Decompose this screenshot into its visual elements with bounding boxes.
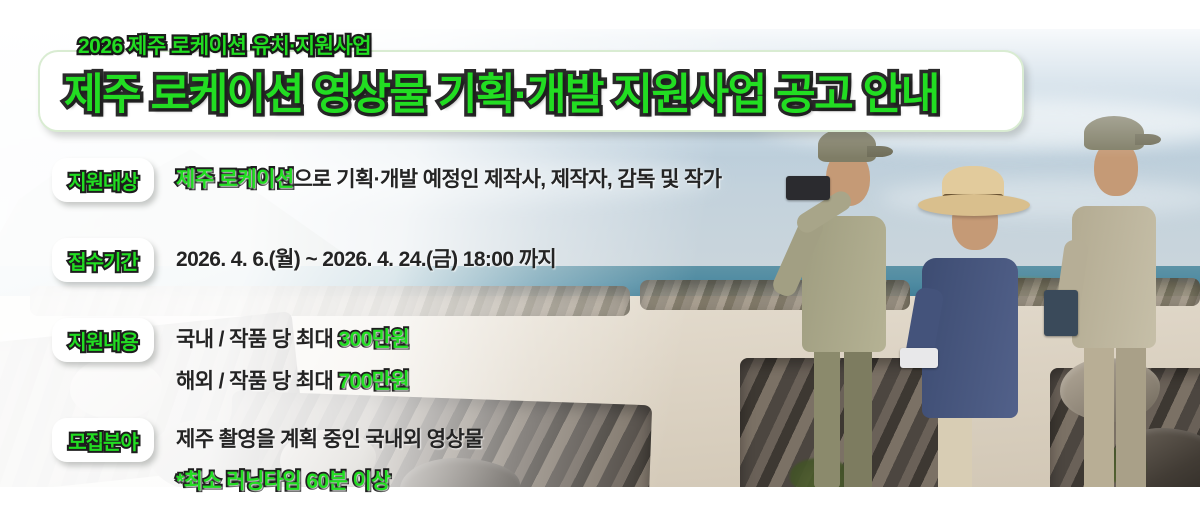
row-body: 제주 로케이션으로 기획·개발 예정인 제작사, 제작자, 감독 및 작가 [176,158,721,197]
row-line-highlight: 제주 로케이션 [176,168,294,191]
leg [814,338,840,487]
phone-icon [900,348,938,368]
tablet-icon [1044,290,1078,336]
leg [844,338,872,487]
row-line-text: 해외 / 작품 당 최대 [176,370,338,393]
row-badge: 모집분야 [52,418,154,462]
row-line-highlight: 700만원 [338,370,409,393]
row-badge-label: 지원내용 [68,326,138,355]
row-line-text: 국내 / 작품 당 최대 [176,328,338,351]
row-line: 2026. 4. 6.(월) ~ 2026. 4. 24.(금) 18:00 까… [176,243,556,277]
row-line-highlight: 300만원 [338,328,409,351]
row-badge: 지원대상 [52,158,154,202]
row-line-text: 2026. 4. 6.(월) ~ 2026. 4. 24.(금) 18:00 까… [176,248,556,271]
row-body: 2026. 4. 6.(월) ~ 2026. 4. 24.(금) 18:00 까… [176,238,556,277]
info-row: 접수기간2026. 4. 6.(월) ~ 2026. 4. 24.(금) 18:… [52,238,556,282]
row-badge: 지원내용 [52,318,154,362]
poster-banner: 2026 제주 로케이션 유치·지원사업 제주 로케이션 영상물 기획·개발 지… [0,0,1200,520]
row-line-text: 제주 촬영을 계획 중인 국내외 영상물 [176,428,483,451]
row-line: 해외 / 작품 당 최대 700만원 [176,365,409,399]
page-title: 제주 로케이션 영상물 기획·개발 지원사업 공고 안내 [64,60,939,122]
row-badge-label: 모집분야 [68,426,138,455]
row-line-highlight: *최소 러닝타임 60분 이상 [176,470,390,493]
info-row: 지원내용국내 / 작품 당 최대 300만원해외 / 작품 당 최대 700만원 [52,318,409,398]
leg [1116,340,1146,487]
info-row: 지원대상제주 로케이션으로 기획·개발 예정인 제작사, 제작자, 감독 및 작… [52,158,721,202]
row-body: 제주 촬영을 계획 중인 국내외 영상물*최소 러닝타임 60분 이상 [176,418,483,498]
eyebrow-text: 2026 제주 로케이션 유치·지원사업 [78,30,371,60]
info-row: 모집분야제주 촬영을 계획 중인 국내외 영상물*최소 러닝타임 60분 이상 [52,418,483,498]
row-badge-label: 지원대상 [68,166,138,195]
row-badge: 접수기간 [52,238,154,282]
hat-brim [918,194,1030,216]
torso [1072,206,1156,348]
phone-icon [786,176,830,200]
top-white-band [0,0,1200,29]
row-line-text: 으로 기획·개발 예정인 제작사, 제작자, 감독 및 작가 [294,168,722,191]
row-body: 국내 / 작품 당 최대 300만원해외 / 작품 당 최대 700만원 [176,318,409,398]
row-line: 제주 로케이션으로 기획·개발 예정인 제작사, 제작자, 감독 및 작가 [176,163,721,197]
row-badge-label: 접수기간 [68,246,138,275]
row-line: 국내 / 작품 당 최대 300만원 [176,323,409,357]
row-line: *최소 러닝타임 60분 이상 [176,465,483,499]
row-line: 제주 촬영을 계획 중인 국내외 영상물 [176,423,483,457]
leg [1084,340,1114,487]
